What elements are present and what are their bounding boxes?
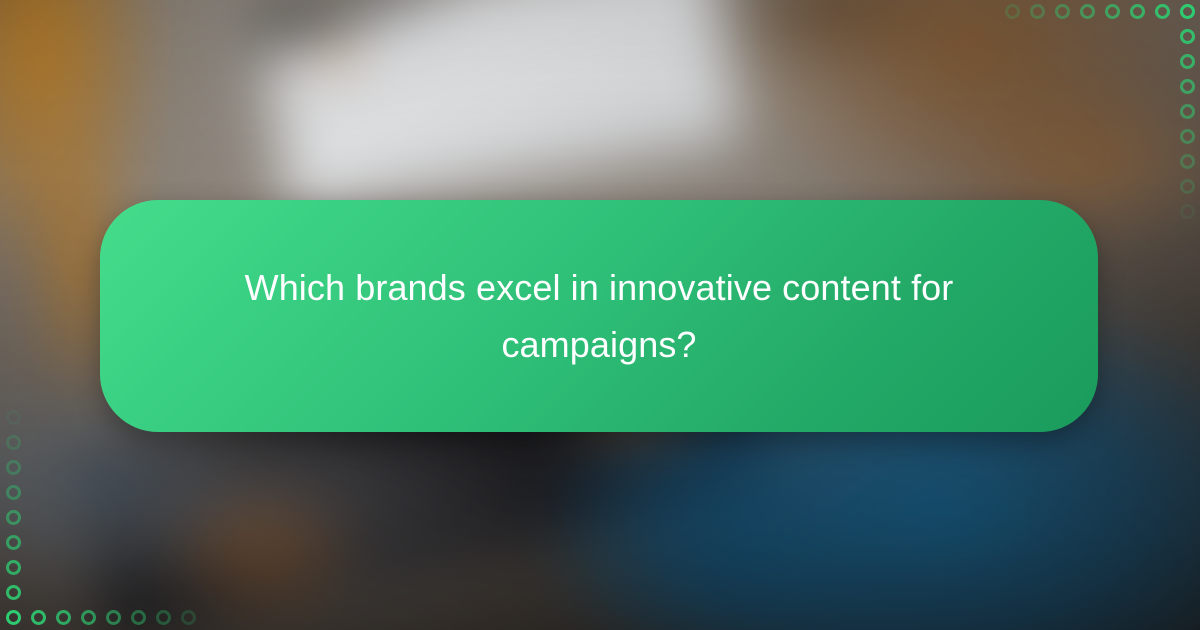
- decoration-dot: [1105, 4, 1120, 19]
- decoration-dot: [1180, 79, 1195, 94]
- question-card: Which brands excel in innovative content…: [100, 200, 1098, 432]
- decoration-dot: [1005, 4, 1020, 19]
- decoration-dot: [1055, 4, 1070, 19]
- decoration-dot: [106, 610, 121, 625]
- decoration-dot: [1130, 4, 1145, 19]
- decoration-dot: [1030, 4, 1045, 19]
- decoration-dot: [6, 460, 21, 475]
- decoration-dot: [6, 510, 21, 525]
- decoration-dot: [1180, 129, 1195, 144]
- decoration-dot: [6, 435, 21, 450]
- social-card-canvas: Which brands excel in innovative content…: [0, 0, 1200, 630]
- decoration-dot: [131, 610, 146, 625]
- decoration-dot: [1180, 29, 1195, 44]
- decoration-dot: [1180, 104, 1195, 119]
- decoration-dot: [81, 610, 96, 625]
- decoration-dot: [156, 610, 171, 625]
- decoration-dot: [31, 610, 46, 625]
- decoration-dot: [6, 535, 21, 550]
- decoration-dot: [56, 610, 71, 625]
- decoration-dot: [6, 585, 21, 600]
- decoration-dot: [6, 610, 21, 625]
- decoration-dot: [6, 485, 21, 500]
- decoration-dot: [6, 410, 21, 425]
- decoration-dot: [1180, 204, 1195, 219]
- decoration-dot: [1180, 4, 1195, 19]
- decoration-dot: [1180, 154, 1195, 169]
- decoration-dot: [1155, 4, 1170, 19]
- decoration-dot: [6, 560, 21, 575]
- question-card-title: Which brands excel in innovative content…: [219, 259, 979, 373]
- decoration-dot: [1080, 4, 1095, 19]
- decoration-dot: [1180, 54, 1195, 69]
- decoration-dot: [1180, 179, 1195, 194]
- decoration-dot: [181, 610, 196, 625]
